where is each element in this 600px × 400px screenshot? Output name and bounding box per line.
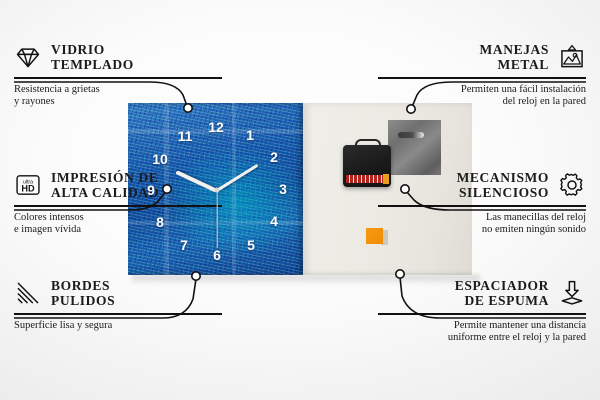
clock-numeral-6: 6 xyxy=(213,248,221,262)
feature-description: Superficie lisa y segura xyxy=(14,320,222,333)
clock-second-hand xyxy=(216,190,217,248)
clock-minute-hand xyxy=(216,164,258,192)
clock-numeral-1: 1 xyxy=(246,128,254,142)
feature-mecanismo-silencioso: MECANISMO SILENCIOSO Las manecillas del … xyxy=(378,170,586,237)
feature-description: Las manecillas del reloj no emiten ningú… xyxy=(378,212,586,237)
feature-espaciador-de-espuma: ESPACIADOR DE ESPUMA Permite mantener un… xyxy=(378,278,586,345)
svg-text:HD: HD xyxy=(21,183,35,193)
movement-hanging-loop xyxy=(355,139,381,151)
feature-rule xyxy=(14,313,222,315)
feature-description: Permite mantener una distancia uniforme … xyxy=(378,320,586,345)
feature-rule xyxy=(378,205,586,207)
feature-header: VIDRIO TEMPLADO xyxy=(14,42,222,72)
feature-header: ultra HD IMPRESIÓN DE ALTA CALIDAD xyxy=(14,170,222,200)
clock-face-panel: 12 1 2 3 4 5 6 7 8 9 10 11 xyxy=(128,103,303,275)
diamond-icon xyxy=(14,43,42,71)
layers-down-arrow-icon xyxy=(558,279,586,307)
feature-rule xyxy=(378,313,586,315)
clock-hand-cap xyxy=(215,188,220,193)
hanger-slot xyxy=(398,132,424,138)
feature-title: IMPRESIÓN DE ALTA CALIDAD xyxy=(51,170,159,200)
feature-vidrio-templado: VIDRIO TEMPLADO Resistencia a grietas y … xyxy=(14,42,222,109)
clock-numeral-5: 5 xyxy=(247,238,255,252)
feature-title: VIDRIO TEMPLADO xyxy=(51,42,134,72)
clock-numeral-8: 8 xyxy=(156,215,164,229)
feature-rule xyxy=(14,77,222,79)
clock-numeral-4: 4 xyxy=(270,214,278,228)
gear-icon xyxy=(558,171,586,199)
feature-description: Permiten una fácil instalación del reloj… xyxy=(378,84,586,109)
feature-description: Resistencia a grietas y rayones xyxy=(14,84,222,109)
feature-header: BORDES PULIDOS xyxy=(14,278,222,308)
feature-rule xyxy=(14,205,222,207)
feature-bordes-pulidos: BORDES PULIDOS Superficie lisa y segura xyxy=(14,278,222,332)
feature-description: Colores intensos e imagen vívida xyxy=(14,212,222,237)
feature-title: MANEJAS METAL xyxy=(480,42,549,72)
feature-title: BORDES PULIDOS xyxy=(51,278,115,308)
clock-numeral-2: 2 xyxy=(270,150,278,164)
clock-numeral-10: 10 xyxy=(152,152,168,166)
clock-numeral-7: 7 xyxy=(180,238,188,252)
polished-edge-icon xyxy=(14,279,42,307)
feature-manejas-metal: MANEJAS METAL Permiten una fácil instala… xyxy=(378,42,586,109)
feature-header: MANEJAS METAL xyxy=(378,42,586,72)
clock-numeral-9: 9 xyxy=(147,183,155,197)
clock-numeral-3: 3 xyxy=(279,182,287,196)
feature-header: MECANISMO SILENCIOSO xyxy=(378,170,586,200)
clock-numeral-12: 12 xyxy=(208,120,224,134)
ultra-hd-icon: ultra HD xyxy=(14,171,42,199)
print-grid-line xyxy=(232,103,236,275)
feature-title: MECANISMO SILENCIOSO xyxy=(457,170,549,200)
feature-header: ESPACIADOR DE ESPUMA xyxy=(378,278,586,308)
hanger-plate xyxy=(388,120,441,175)
framed-picture-icon xyxy=(558,43,586,71)
infographic-canvas: 12 1 2 3 4 5 6 7 8 9 10 11 xyxy=(0,0,600,400)
feature-rule xyxy=(378,77,586,79)
clock-numeral-11: 11 xyxy=(178,129,193,143)
feature-title: ESPACIADOR DE ESPUMA xyxy=(455,278,549,308)
